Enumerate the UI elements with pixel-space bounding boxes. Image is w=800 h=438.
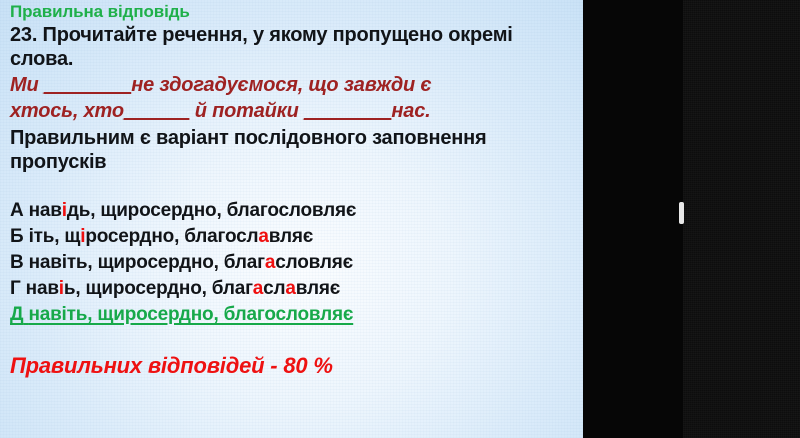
screen-share-view: Правильна відповідь 23. Прочитайте речен… xyxy=(0,0,800,438)
sentence-part: Ми xyxy=(10,74,44,96)
option-letter: Б xyxy=(10,226,23,247)
option-part: ь, щиросердно, благословляє xyxy=(79,200,356,221)
sentence-line-2: хтось, хто______ й потайки ________нас. xyxy=(10,99,573,123)
option-letter: Д xyxy=(10,304,23,325)
sentence-part: й потайки xyxy=(189,100,304,122)
participants-panel[interactable]: Неля Нікуліна xyxy=(683,0,800,438)
option-letter: Г xyxy=(10,278,21,299)
option-highlight: а xyxy=(265,252,275,273)
question-text: 23. Прочитайте речення, у якому пропущен… xyxy=(10,23,573,71)
panel-collapse-handle[interactable] xyxy=(679,202,684,224)
blank-underline: ________ xyxy=(44,74,131,96)
sentence-part: не здогадуємося, що завжди є xyxy=(131,74,431,96)
blank-underline: ________ xyxy=(304,100,391,122)
answer-option-a[interactable]: А навідь, щиросердно, благословляє xyxy=(10,198,573,224)
option-highlight: а xyxy=(253,278,263,299)
sentence-part: нас. xyxy=(391,100,430,122)
stage-background xyxy=(583,0,683,438)
score-summary-text: Правильних відповідей - 80 % xyxy=(10,353,573,379)
option-highlight: а xyxy=(258,226,268,247)
option-part: ь, щиросердно, благ xyxy=(64,278,253,299)
option-part: навіть, щиросердно, благословляє xyxy=(28,304,353,325)
option-part: вляє xyxy=(269,226,313,247)
option-part: д xyxy=(67,200,79,221)
option-highlight: а xyxy=(285,278,295,299)
answer-option-h[interactable]: Г навіь, щиросердно, благаславляє xyxy=(10,276,573,302)
option-letter: А xyxy=(10,200,24,221)
sentence-part: хтось, хто xyxy=(10,100,124,122)
option-letter: В xyxy=(10,252,24,273)
option-part: нав xyxy=(26,278,59,299)
option-part: сл xyxy=(263,278,285,299)
option-part: іть, щ xyxy=(29,226,81,247)
option-part: нав xyxy=(29,200,62,221)
slide-content: Правильна відповідь 23. Прочитайте речен… xyxy=(0,0,583,379)
sentence-line-1: Ми ________не здогадуємося, що завжди є xyxy=(10,73,573,97)
instruction-text: Правильним є варіант послідовного заповн… xyxy=(10,126,573,174)
option-part: вляє xyxy=(296,278,340,299)
answer-option-d-correct[interactable]: Д навіть, щиросердно, благословляє xyxy=(10,302,573,328)
blank-underline: ______ xyxy=(124,100,190,122)
option-part: словляє xyxy=(275,252,353,273)
slide-heading-correct-answer: Правильна відповідь xyxy=(10,2,573,22)
option-part: навіть, щиросердно, благ xyxy=(29,252,265,273)
answer-options-list: А навідь, щиросердно, благословляє Б іть… xyxy=(10,198,573,329)
answer-option-b[interactable]: Б іть, щіросердно, благославляє xyxy=(10,224,573,250)
answer-option-v[interactable]: В навіть, щиросердно, благасловляє xyxy=(10,250,573,276)
presentation-slide[interactable]: Правильна відповідь 23. Прочитайте речен… xyxy=(0,0,583,438)
option-part: росердно, благосл xyxy=(85,226,258,247)
